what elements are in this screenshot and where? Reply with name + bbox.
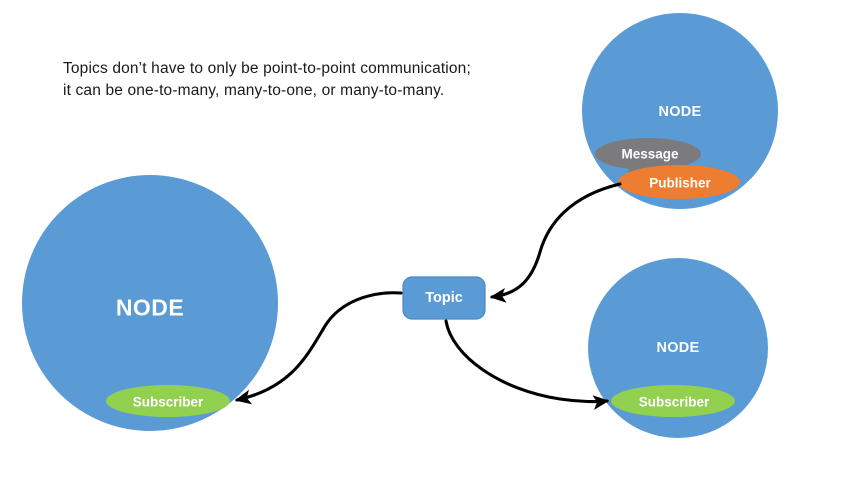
- node-top-right-label: NODE: [658, 104, 701, 120]
- arrow-publisher-to-topic: [492, 184, 620, 297]
- publisher-label: Publisher: [649, 176, 711, 191]
- message-label: Message: [621, 147, 678, 162]
- topic-label: Topic: [425, 290, 463, 306]
- node-bottom-right-label: NODE: [656, 340, 699, 356]
- subscriber-label-left: Subscriber: [133, 395, 204, 410]
- diagram-arrows-layer: [0, 0, 854, 480]
- node-left-label: NODE: [116, 295, 184, 322]
- arrow-topic-to-bottom-right-subscriber: [446, 321, 607, 402]
- slide-canvas: Topics don’t have to only be point-to-po…: [0, 0, 854, 480]
- arrow-topic-to-left-subscriber: [237, 293, 401, 400]
- subscriber-label-bottom-right: Subscriber: [639, 395, 710, 410]
